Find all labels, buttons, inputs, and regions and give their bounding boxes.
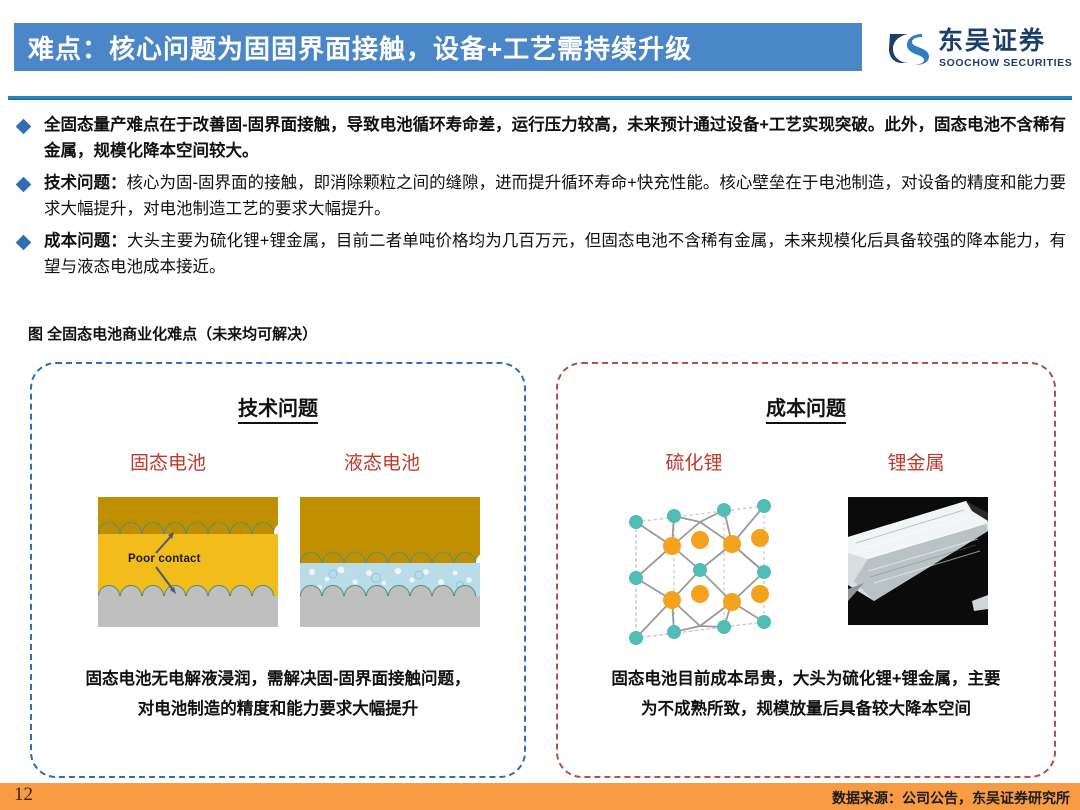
- inner-atoms: [663, 529, 769, 611]
- bullet-text-2: 技术问题：核心为固-固界面的接触，即消除颗粒之间的缝隙，进而提升循环寿命+快充性…: [44, 170, 1066, 222]
- logo-name-cn: 东吴证券: [938, 26, 1046, 56]
- slide-header: 难点：核心问题为固固界面接触，设备+工艺需持续升级 东吴证券 SOOCHOW S…: [0, 0, 1080, 98]
- panel-right-title: 成本问题: [558, 392, 1054, 421]
- sub-label-liquid-battery: 液态电池: [282, 448, 482, 475]
- panel-left-caption-line1: 固态电池无电解液浸润，需解决固-固界面接触问题，: [48, 664, 508, 694]
- panel-right-caption-line1: 固态电池目前成本昂贵，大头为硫化锂+锂金属，主要: [574, 664, 1038, 694]
- soochow-s-swoosh-logo-icon: [888, 30, 930, 68]
- bullet-text-1: 全固态量产难点在于改善固-固界面接触，导致电池循环寿命差，运行压力较高，未来预计…: [44, 112, 1066, 164]
- panel-right-caption: 固态电池目前成本昂贵，大头为硫化锂+锂金属，主要 为不成熟所致，规模放量后具备较…: [574, 664, 1038, 724]
- header-divider: [8, 96, 1072, 100]
- bullet-item-2: 技术问题：核心为固-固界面的接触，即消除颗粒之间的缝隙，进而提升循环寿命+快充性…: [14, 170, 1066, 222]
- solid-state-battery-interface-diagram: Poor contact: [98, 497, 278, 627]
- lithium-foil-image: [848, 497, 988, 625]
- liquid-battery-interface-diagram: [300, 497, 480, 627]
- panel-technical-issues: 技术问题 固态电池 液态电池 Poor contact: [30, 362, 526, 778]
- diamond-bullet-icon: [16, 177, 32, 193]
- page-title: 难点：核心问题为固固界面接触，设备+工艺需持续升级: [14, 29, 692, 66]
- logo-name-en: SOOCHOW SECURITIES: [939, 57, 1072, 69]
- company-logo: 东吴证券 SOOCHOW SECURITIES: [888, 26, 1066, 74]
- bullet-text-3: 成本问题：大头主要为硫化锂+锂金属，目前二者单吨价格均为几百万元，但固态电池不含…: [44, 228, 1066, 280]
- panel-left-caption: 固态电池无电解液浸润，需解决固-固界面接触问题， 对电池制造的精度和能力要求大幅…: [48, 664, 508, 724]
- bullet-lead-2: 技术问题：: [44, 174, 127, 192]
- slide-footer: 12 数据来源：公司公告，东吴证券研究所: [0, 783, 1080, 810]
- title-banner: 难点：核心问题为固固界面接触，设备+工艺需持续升级: [14, 23, 862, 71]
- bullet-lead-3: 成本问题：: [44, 232, 127, 250]
- panel-cost-issues: 成本问题 硫化锂 锂金属: [556, 362, 1056, 778]
- bullet-body-2: 核心为固-固界面的接触，即消除颗粒之间的缝隙，进而提升循环寿命+快充性能。核心壁…: [44, 174, 1066, 218]
- sub-label-solid-state-battery: 固态电池: [68, 448, 268, 475]
- panel-left-caption-line2: 对电池制造的精度和能力要求大幅提升: [48, 694, 508, 724]
- bullet-list: 全固态量产难点在于改善固-固界面接触，导致电池循环寿命差，运行压力较高，未来预计…: [14, 112, 1066, 286]
- lithium-sulfide-crystal-lattice: [614, 494, 784, 649]
- figure-caption: 图 全固态电池商业化难点（未来均可解决）: [28, 323, 317, 344]
- sub-label-lithium-sulfide: 硫化锂: [594, 448, 794, 475]
- panel-right-caption-line2: 为不成熟所致，规模放量后具备较大降本空间: [574, 694, 1038, 724]
- diamond-bullet-icon: [16, 235, 32, 251]
- poor-contact-label: Poor contact: [128, 553, 201, 565]
- anode-layer-liquid: [300, 596, 480, 627]
- data-source-note: 数据来源：公司公告，东吴证券研究所: [832, 788, 1070, 808]
- diamond-bullet-icon: [16, 119, 32, 135]
- bullet-item-1: 全固态量产难点在于改善固-固界面接触，导致电池循环寿命差，运行压力较高，未来预计…: [14, 112, 1066, 164]
- sub-label-lithium-metal: 锂金属: [816, 448, 1016, 475]
- page-number: 12: [14, 784, 33, 806]
- bullet-item-3: 成本问题：大头主要为硫化锂+锂金属，目前二者单吨价格均为几百万元，但固态电池不含…: [14, 228, 1066, 280]
- bullet-body-3: 大头主要为硫化锂+锂金属，目前二者单吨价格均为几百万元，但固态电池不含稀有金属，…: [44, 232, 1066, 276]
- panel-left-title: 技术问题: [32, 392, 524, 421]
- lithium-metal-foil-photo: [848, 497, 988, 625]
